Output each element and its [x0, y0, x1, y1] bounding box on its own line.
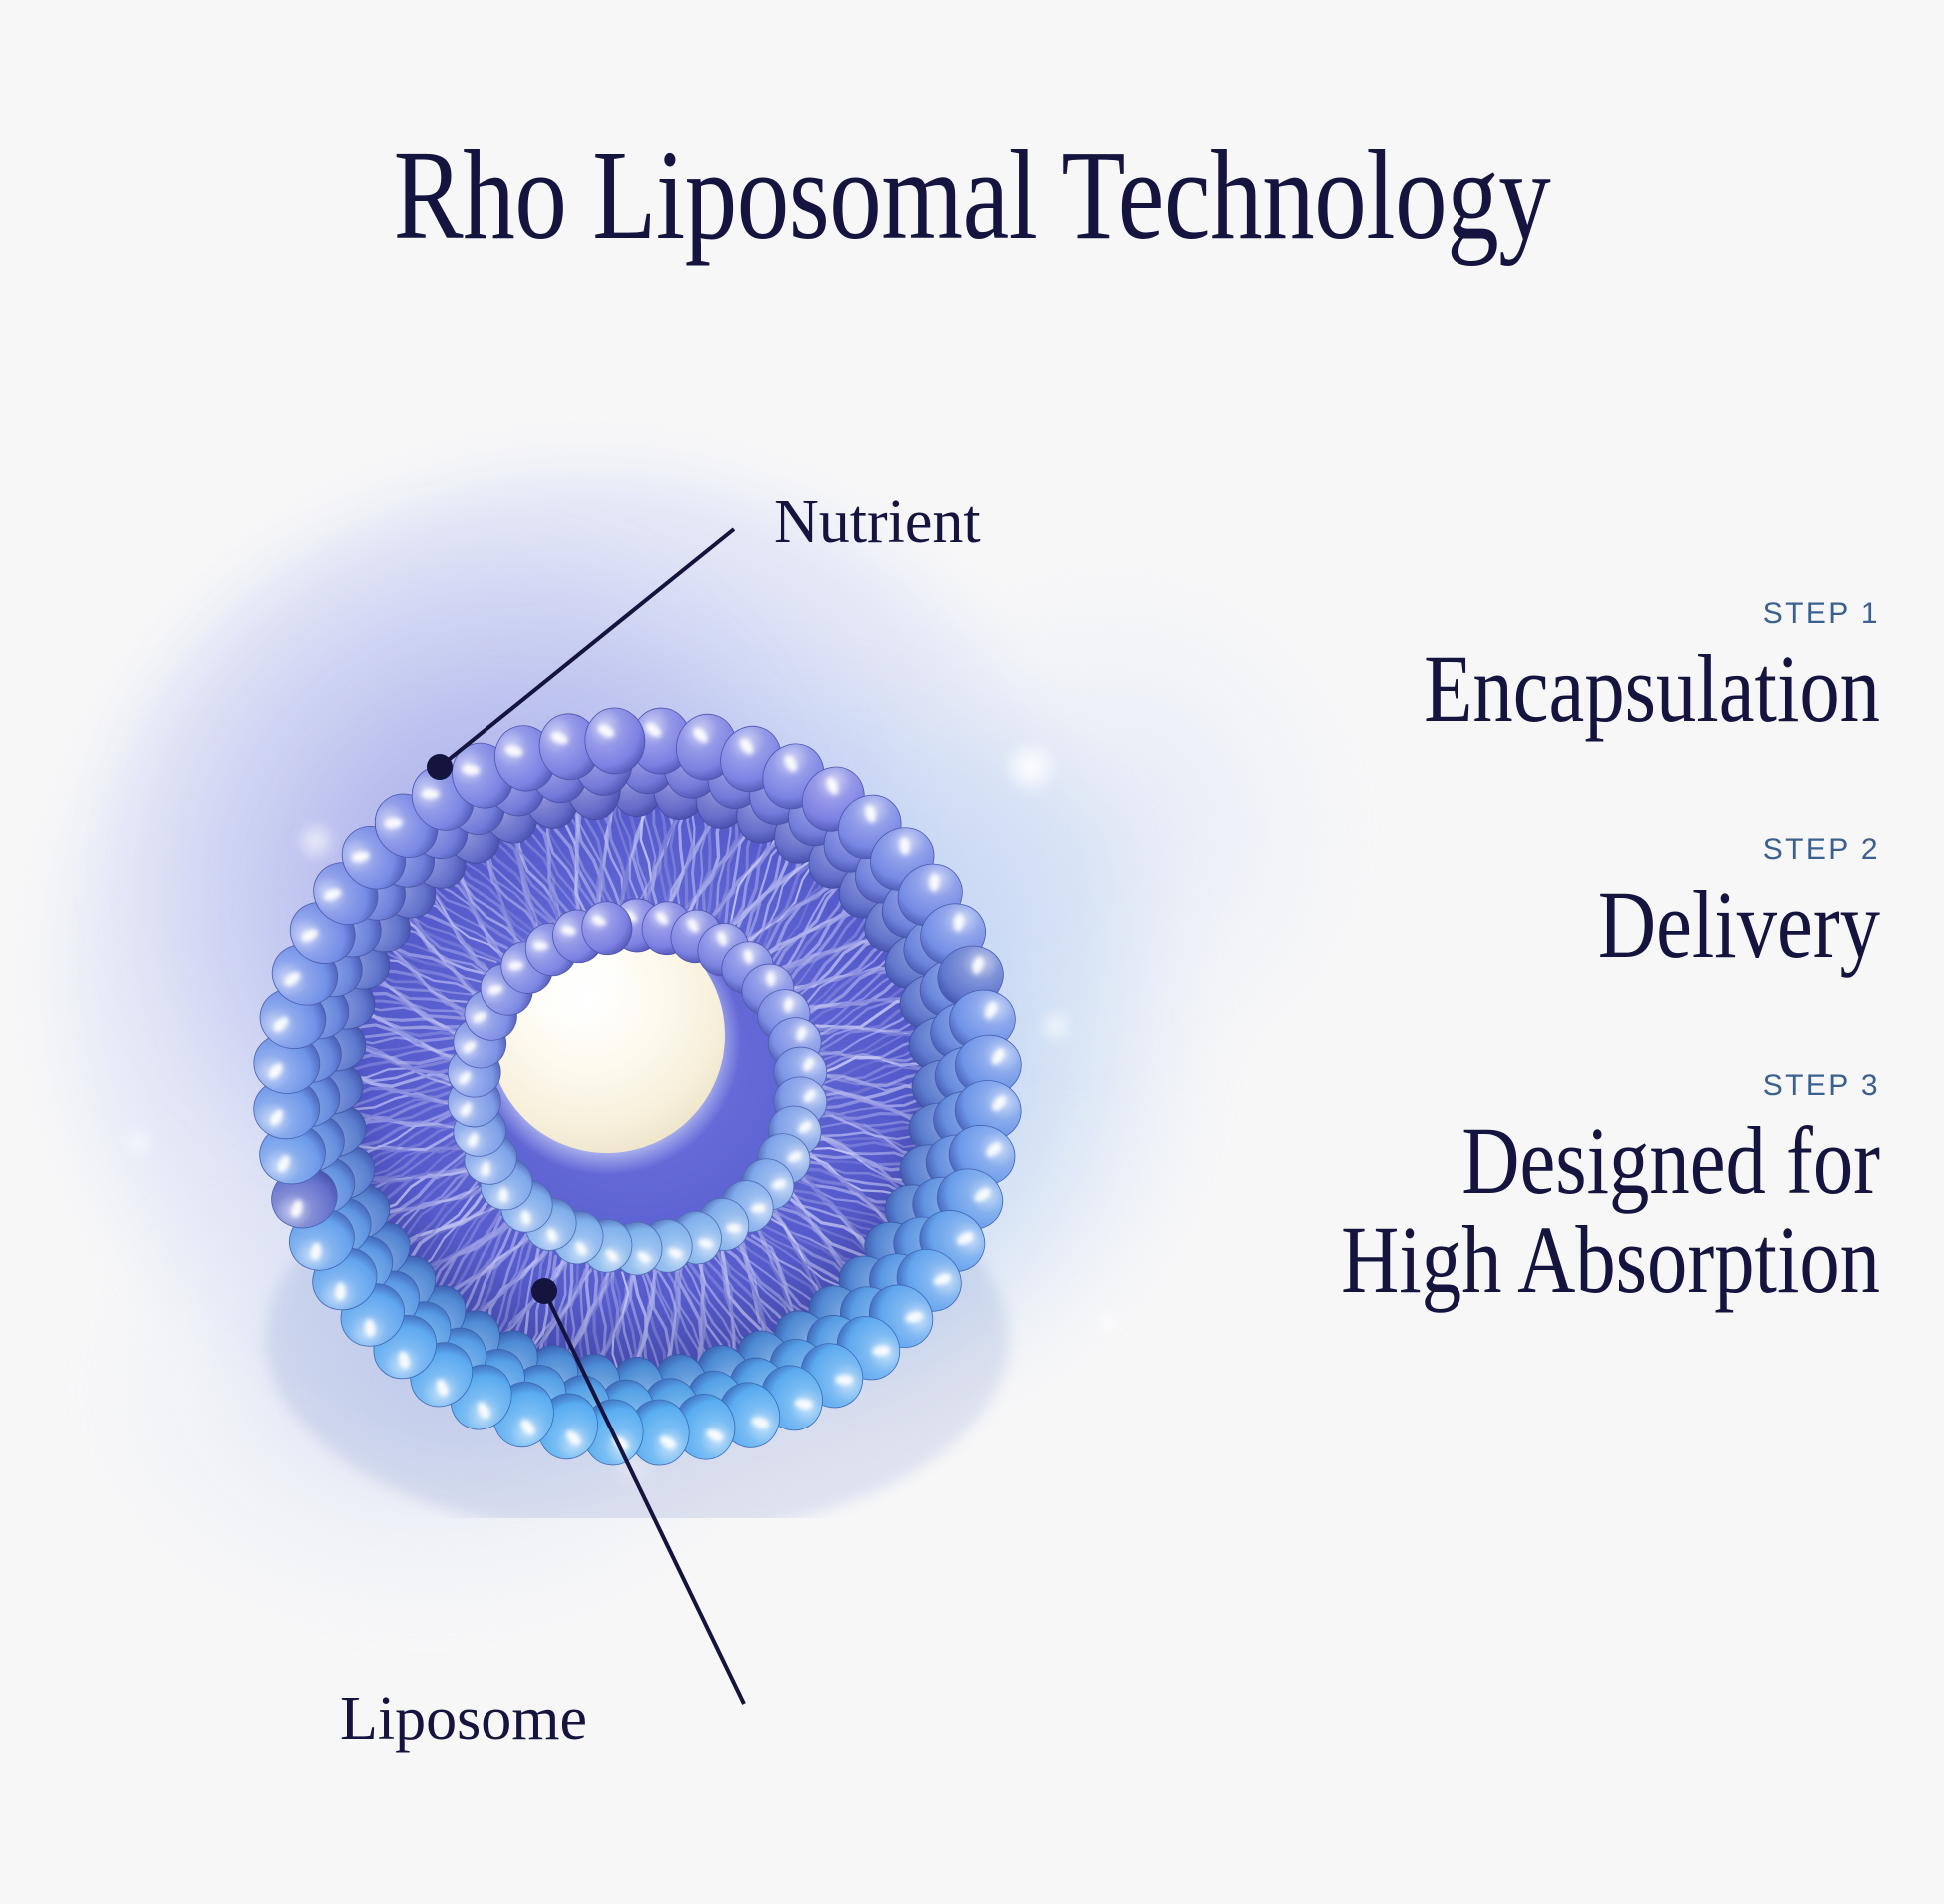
step-kicker-3: STEP 3: [1121, 1071, 1880, 1101]
page-title: Rho Liposomal Technology: [175, 128, 1769, 264]
step-item-3: STEP 3 Designed for High Absorption: [1121, 1071, 1880, 1311]
step-item-2: STEP 2 Delivery: [1121, 835, 1880, 975]
callout-label-nutrient: Nutrient: [774, 491, 981, 553]
step-title-2: Delivery: [1243, 875, 1880, 975]
bokeh-dot: [124, 1127, 154, 1157]
step-item-1: STEP 1 Encapsulation: [1121, 599, 1880, 739]
steps-list: STEP 1 Encapsulation STEP 2 Delivery STE…: [1121, 599, 1880, 1310]
infographic-page: Rho Liposomal Technology: [0, 0, 1944, 1904]
step-kicker-2: STEP 2: [1121, 835, 1880, 865]
step-title-line: Encapsulation: [1243, 639, 1880, 739]
liposome-illustration: [170, 639, 1099, 1518]
step-kicker-1: STEP 1: [1121, 599, 1880, 629]
step-title-3: Designed for High Absorption: [1243, 1111, 1880, 1311]
callout-label-liposome: Liposome: [340, 1688, 587, 1750]
step-title-line: Designed for: [1243, 1111, 1880, 1211]
step-title-line: Delivery: [1243, 875, 1880, 975]
step-title-1: Encapsulation: [1243, 639, 1880, 739]
liposome-svg: [170, 639, 1099, 1518]
step-title-line: High Absorption: [1243, 1210, 1880, 1310]
